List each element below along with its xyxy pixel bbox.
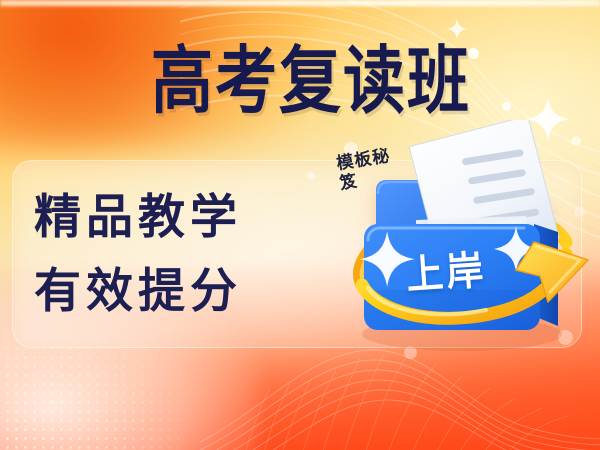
sparkle-star-icon [446, 18, 468, 40]
subtitle-line-2: 有效提分 [34, 254, 242, 328]
promo-banner: 高考复读班 精品教学 有效提分 [0, 0, 600, 450]
folder-label: 上岸 [404, 237, 488, 301]
folder-illustration: 模板秘笈 上岸 [320, 120, 600, 370]
page-title: 高考复读班 [0, 46, 600, 119]
document-label: 模板秘笈 [335, 146, 395, 194]
subtitle-block: 精品教学 有效提分 [34, 180, 242, 328]
subtitle-line-1: 精品教学 [34, 180, 242, 254]
